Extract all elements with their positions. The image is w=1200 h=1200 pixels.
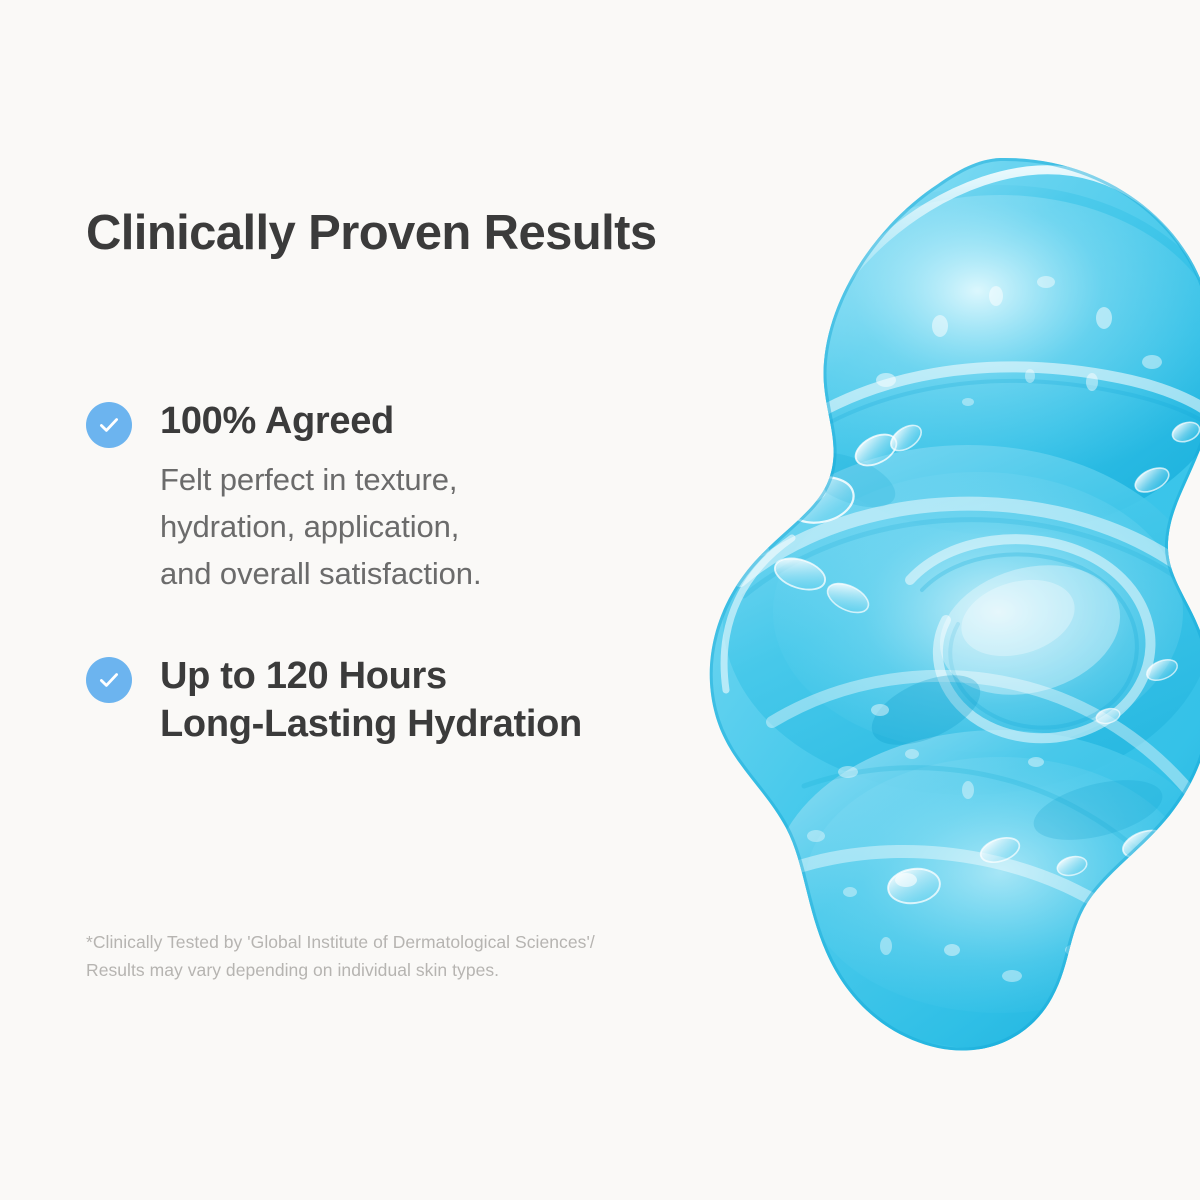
- check-circle-icon: [86, 402, 132, 448]
- copy-column: Clinically Proven Results 100% Agreed Fe…: [86, 0, 786, 1200]
- claim-title: Up to 120 Hours Long-Lasting Hydration: [160, 653, 746, 749]
- page-title: Clinically Proven Results: [86, 206, 657, 261]
- claim-title: 100% Agreed: [160, 398, 746, 446]
- claim-item: 100% Agreed Felt perfect in texture, hyd…: [86, 398, 746, 597]
- check-circle-icon: [86, 657, 132, 703]
- claims-list: 100% Agreed Felt perfect in texture, hyd…: [86, 398, 746, 749]
- claim-item: Up to 120 Hours Long-Lasting Hydration: [86, 653, 746, 749]
- footnote-disclaimer: *Clinically Tested by 'Global Institute …: [86, 928, 595, 985]
- promo-card: Clinically Proven Results 100% Agreed Fe…: [0, 0, 1200, 1200]
- claim-body: Felt perfect in texture, hydration, appl…: [160, 456, 746, 597]
